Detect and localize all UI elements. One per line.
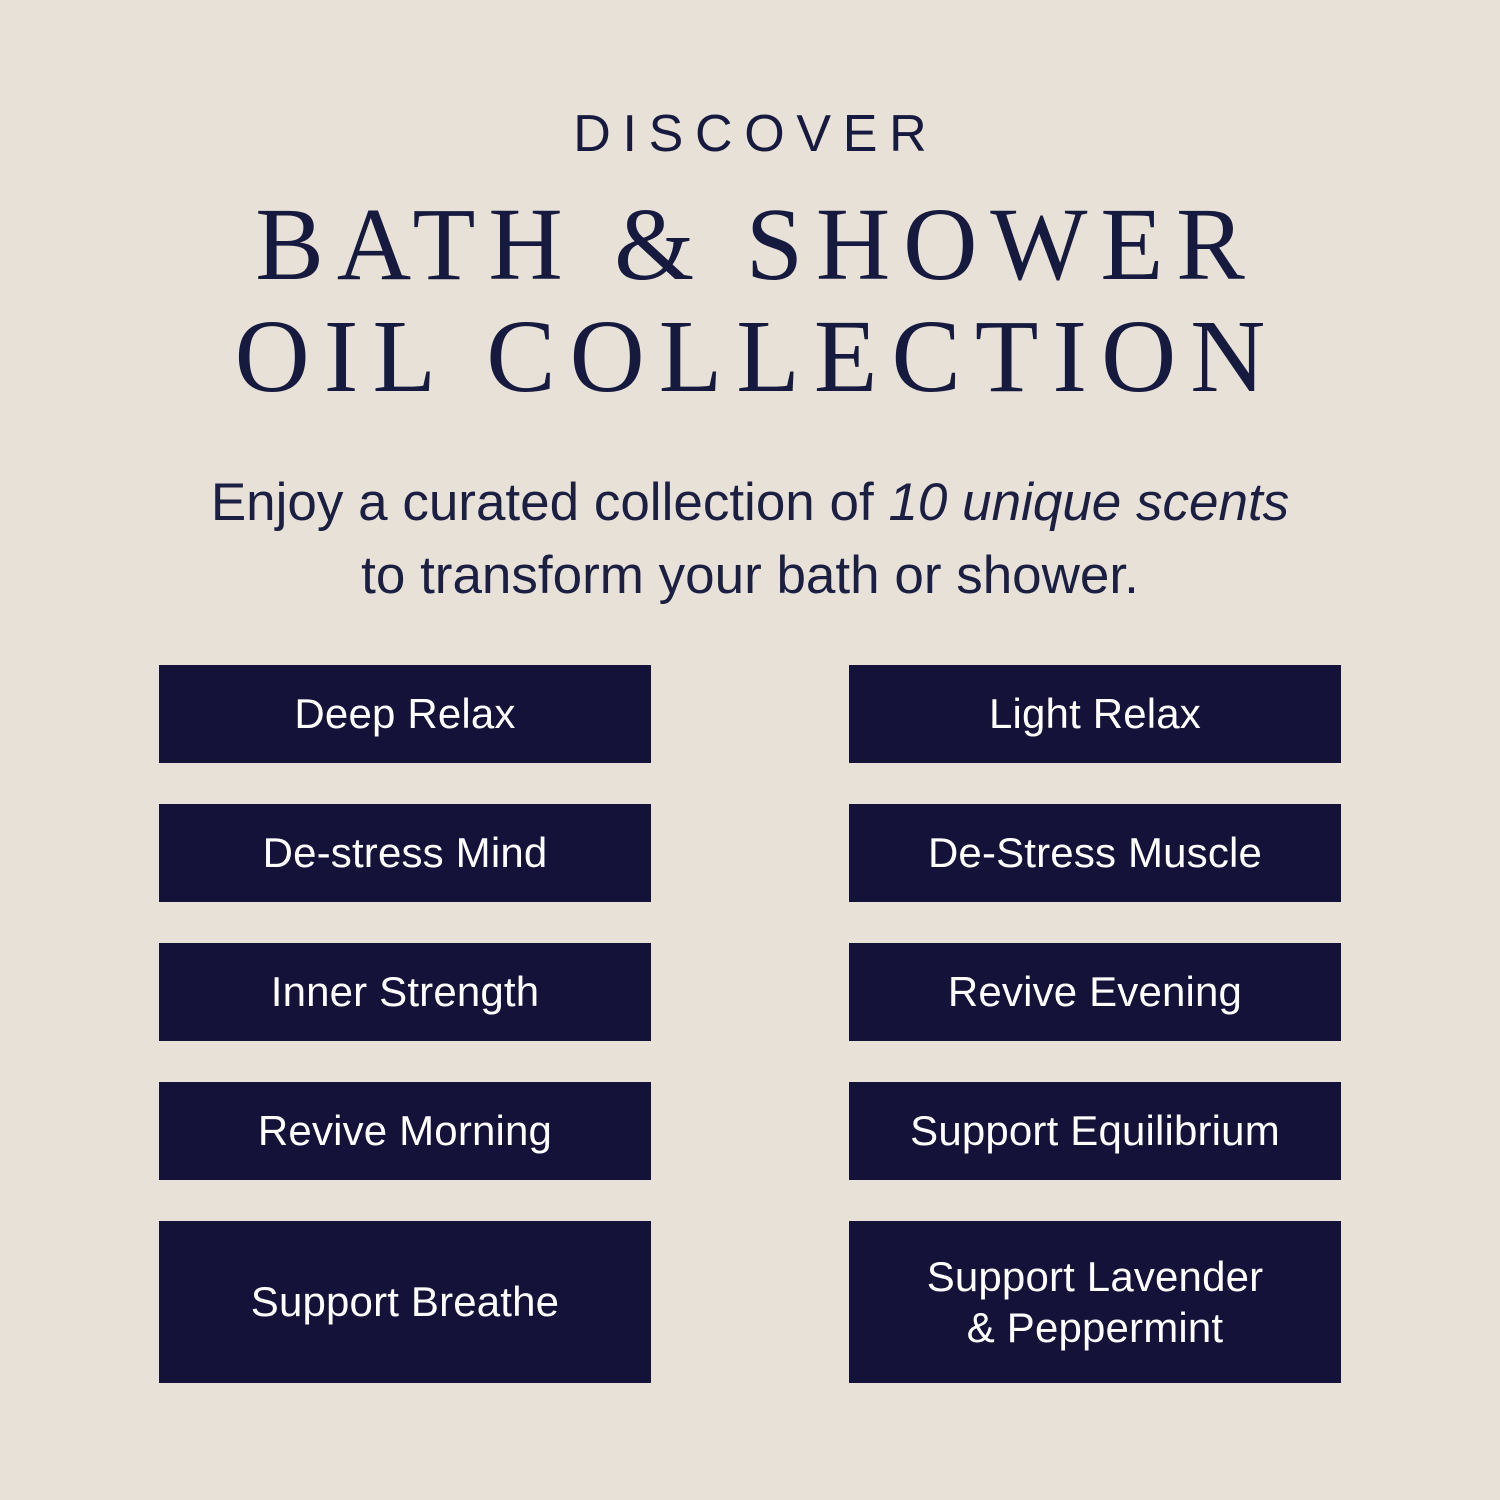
scent-card-label: Support Equilibrium (910, 1105, 1280, 1156)
scent-card-label: De-stress Mind (263, 827, 548, 878)
scent-card-label: Revive Evening (948, 966, 1242, 1017)
scent-grid: Deep Relax Light Relax De-stress Mind De… (159, 665, 1341, 1383)
promo-page: DISCOVER BATH & SHOWER OIL COLLECTION En… (0, 0, 1500, 1500)
scent-card[interactable]: Revive Evening (849, 943, 1341, 1041)
scent-card-label: Deep Relax (294, 688, 515, 739)
page-title-line-1: BATH & SHOWER (8, 196, 1493, 294)
scent-card-label: Support Lavender & Peppermint (927, 1251, 1264, 1353)
header-block: DISCOVER BATH & SHOWER OIL COLLECTION En… (0, 0, 1500, 612)
subtitle-text-before: Enjoy a curated collection of (211, 473, 889, 532)
scent-card[interactable]: De-stress Mind (159, 804, 651, 902)
scent-card-label: Light Relax (989, 688, 1201, 739)
scent-card[interactable]: Support Lavender & Peppermint (849, 1221, 1341, 1383)
scent-card[interactable]: Support Equilibrium (849, 1082, 1341, 1180)
scent-card[interactable]: De-Stress Muscle (849, 804, 1341, 902)
scent-card-label: Support Breathe (251, 1276, 559, 1327)
scent-card[interactable]: Inner Strength (159, 943, 651, 1041)
subtitle-line-2: to transform your bath or shower. (0, 539, 1500, 612)
scent-card[interactable]: Deep Relax (159, 665, 651, 763)
subtitle-emphasis: 10 unique scents (888, 473, 1289, 532)
scent-card[interactable]: Support Breathe (159, 1221, 651, 1383)
subtitle-line-1: Enjoy a curated collection of 10 unique … (0, 466, 1500, 539)
scent-card[interactable]: Light Relax (849, 665, 1341, 763)
scent-card[interactable]: Revive Morning (159, 1082, 651, 1180)
eyebrow-heading: DISCOVER (0, 0, 1500, 160)
scent-card-label: Revive Morning (258, 1105, 552, 1156)
subtitle: Enjoy a curated collection of 10 unique … (0, 406, 1500, 612)
page-title: BATH & SHOWER OIL COLLECTION (0, 160, 1500, 406)
scent-card-label: De-Stress Muscle (928, 827, 1262, 878)
scent-card-label: Inner Strength (271, 966, 540, 1017)
page-title-line-2: OIL COLLECTION (0, 294, 1500, 406)
